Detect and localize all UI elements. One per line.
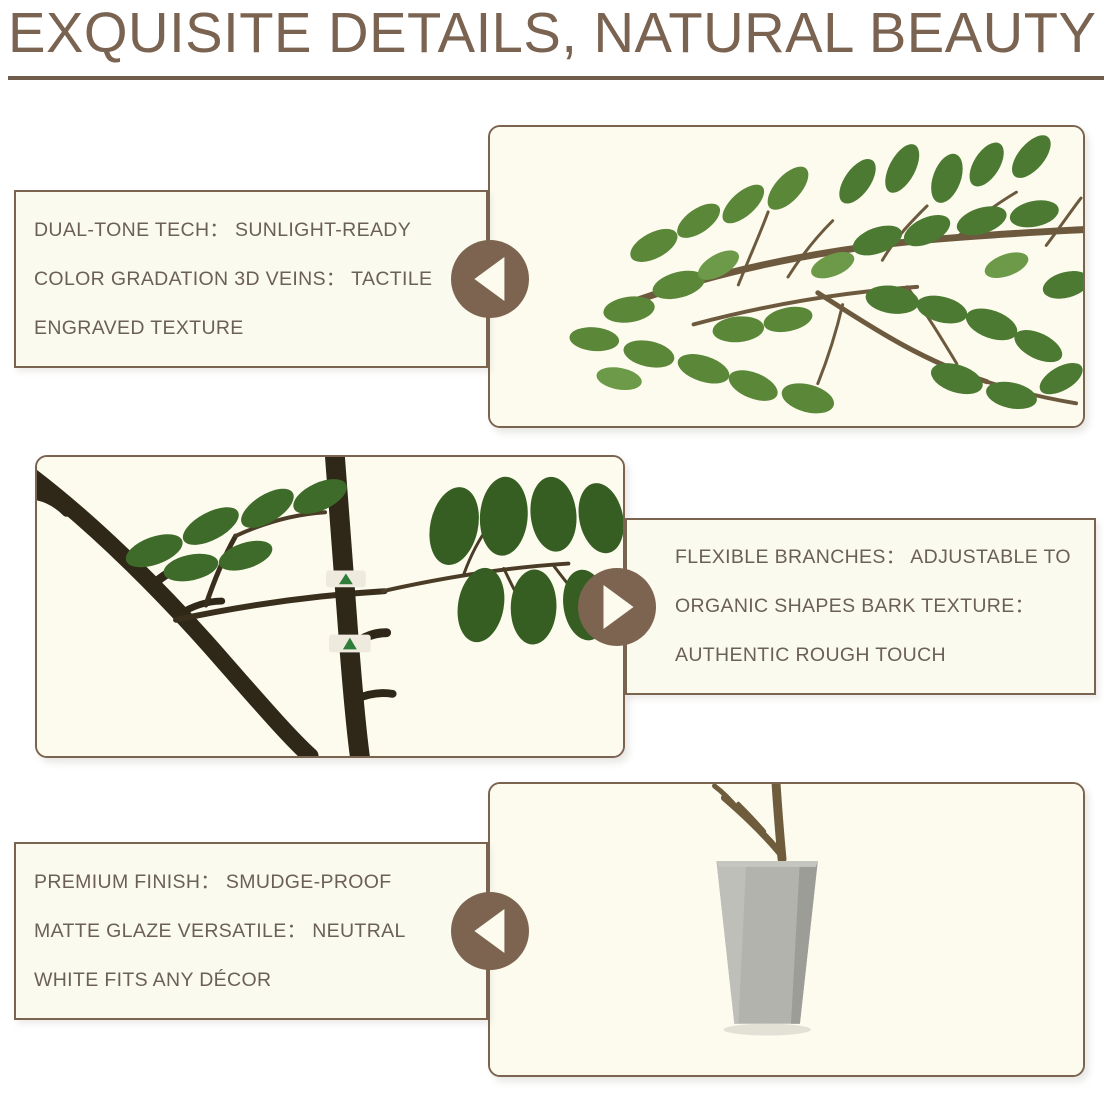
feature-line: ORGANIC SHAPES BARK TEXTURE： <box>675 582 1094 631</box>
triangle-right-glyph <box>604 585 634 629</box>
text-panel-flexible-branches: FLEXIBLE BRANCHES： ADJUSTABLE TO ORGANIC… <box>625 518 1096 695</box>
feature-line: MATTE GLAZE VERSATILE： NEUTRAL <box>34 907 486 956</box>
feature-line: FLEXIBLE BRANCHES： ADJUSTABLE TO <box>675 533 1094 582</box>
triangle-left-glyph <box>474 909 504 953</box>
grey-tapered-planter-photo <box>488 782 1085 1077</box>
planter-artwork <box>490 784 1083 1075</box>
feature-line: DUAL-TONE TECH： SUNLIGHT-READY <box>34 206 486 255</box>
text-panel-dual-tone: DUAL-TONE TECH： SUNLIGHT-READY COLOR GRA… <box>14 190 488 368</box>
triangle-left-glyph <box>474 257 504 301</box>
feature-line: COLOR GRADATION 3D VEINS： TACTILE <box>34 255 486 304</box>
triangle-left-icon <box>451 240 529 318</box>
page-title: EXQUISITE DETAILS, NATURAL BEAUTY <box>8 2 1088 64</box>
bark-trunk-branches-photo <box>35 455 625 758</box>
leaf-artwork <box>490 127 1083 426</box>
title-divider <box>8 76 1104 80</box>
feature-line: PREMIUM FINISH： SMUDGE-PROOF <box>34 858 486 907</box>
feature-line: AUTHENTIC ROUGH TOUCH <box>675 631 1094 680</box>
leafy-branch-closeup-photo <box>488 125 1085 428</box>
triangle-right-icon <box>578 568 656 646</box>
text-panel-premium-finish: PREMIUM FINISH： SMUDGE-PROOF MATTE GLAZE… <box>14 842 488 1020</box>
feature-line: ENGRAVED TEXTURE <box>34 304 486 353</box>
infographic-page: EXQUISITE DETAILS, NATURAL BEAUTY <box>0 0 1112 1094</box>
feature-line: WHITE FITS ANY DÉCOR <box>34 956 486 1005</box>
triangle-left-icon <box>451 892 529 970</box>
bark-artwork <box>37 457 623 756</box>
